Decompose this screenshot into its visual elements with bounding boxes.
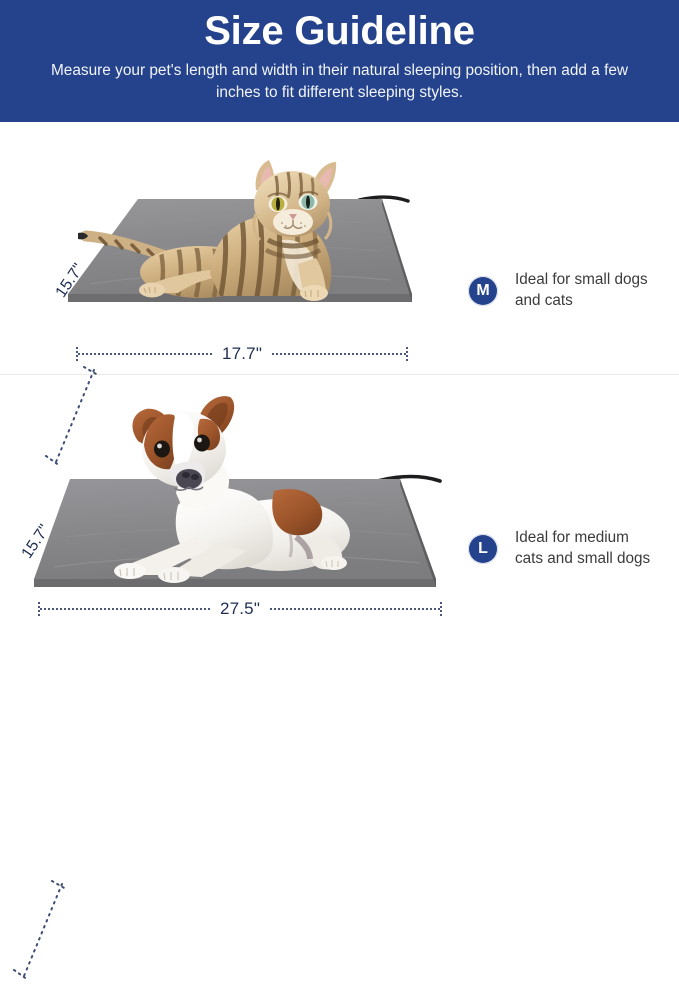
dim-line-left: [78, 353, 212, 355]
product-scene-cat: [60, 144, 420, 344]
dim-cap-right: [440, 602, 442, 616]
dim-line-right: [270, 608, 440, 610]
cat-on-heating-mat-illustration: [60, 144, 420, 344]
size-panel-m: [0, 122, 679, 375]
size-badge-m: M: [468, 276, 498, 306]
dim-cap-right: [406, 347, 408, 361]
depth-dimension-ticks-l: [8, 880, 70, 986]
dog-on-heating-mat-illustration: [28, 387, 448, 602]
size-option-l[interactable]: L Ideal for medium cats and small dogs: [468, 528, 650, 569]
width-dimension-l: 27.5": [38, 600, 442, 618]
header-banner: Size Guideline Measure your pet's length…: [0, 0, 679, 122]
width-dimension-label-m: 17.7": [212, 344, 272, 364]
size-badge-l: L: [468, 534, 498, 564]
size-panel-l: [0, 375, 679, 628]
size-caption-m: Ideal for small dogs and cats: [515, 270, 648, 311]
dim-line-left: [40, 608, 210, 610]
width-dimension-m: 17.7": [76, 345, 408, 363]
size-caption-l: Ideal for medium cats and small dogs: [515, 528, 650, 569]
product-scene-dog: [28, 387, 448, 602]
width-dimension-label-l: 27.5": [210, 599, 270, 619]
size-option-m[interactable]: M Ideal for small dogs and cats: [468, 270, 648, 311]
page-title: Size Guideline: [204, 9, 475, 54]
header-subtitle: Measure your pet's length and width in t…: [30, 60, 650, 104]
dim-line-right: [272, 353, 406, 355]
